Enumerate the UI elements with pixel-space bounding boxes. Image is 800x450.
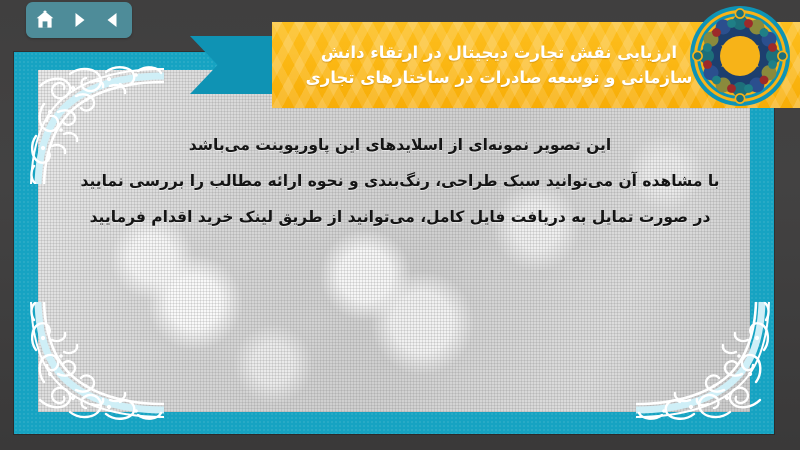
body-line-3: در صورت تمایل به دریافت فایل کامل، می‌تو…	[40, 200, 760, 236]
arrow-right-icon	[69, 10, 89, 30]
body-line-1: این تصویر نمونه‌ای از اسلایدهای این پاور…	[40, 128, 760, 164]
slide-canvas[interactable]	[14, 52, 774, 434]
slide-viewer: ارزیابی نقش تجارت دیجیتال در ارتقاء دانش…	[0, 0, 800, 450]
body-line-2: با مشاهده آن می‌توانید سبک طراحی، رنگ‌بن…	[40, 164, 760, 200]
slide-content-panel	[38, 70, 750, 412]
navigation-toolbar	[26, 2, 132, 38]
next-slide-button[interactable]	[63, 5, 95, 35]
home-button[interactable]	[29, 5, 61, 35]
previous-slide-button[interactable]	[97, 5, 129, 35]
slide-body-text: این تصویر نمونه‌ای از اسلایدهای این پاور…	[40, 128, 760, 236]
home-icon	[34, 9, 56, 31]
arrow-left-icon	[103, 10, 123, 30]
